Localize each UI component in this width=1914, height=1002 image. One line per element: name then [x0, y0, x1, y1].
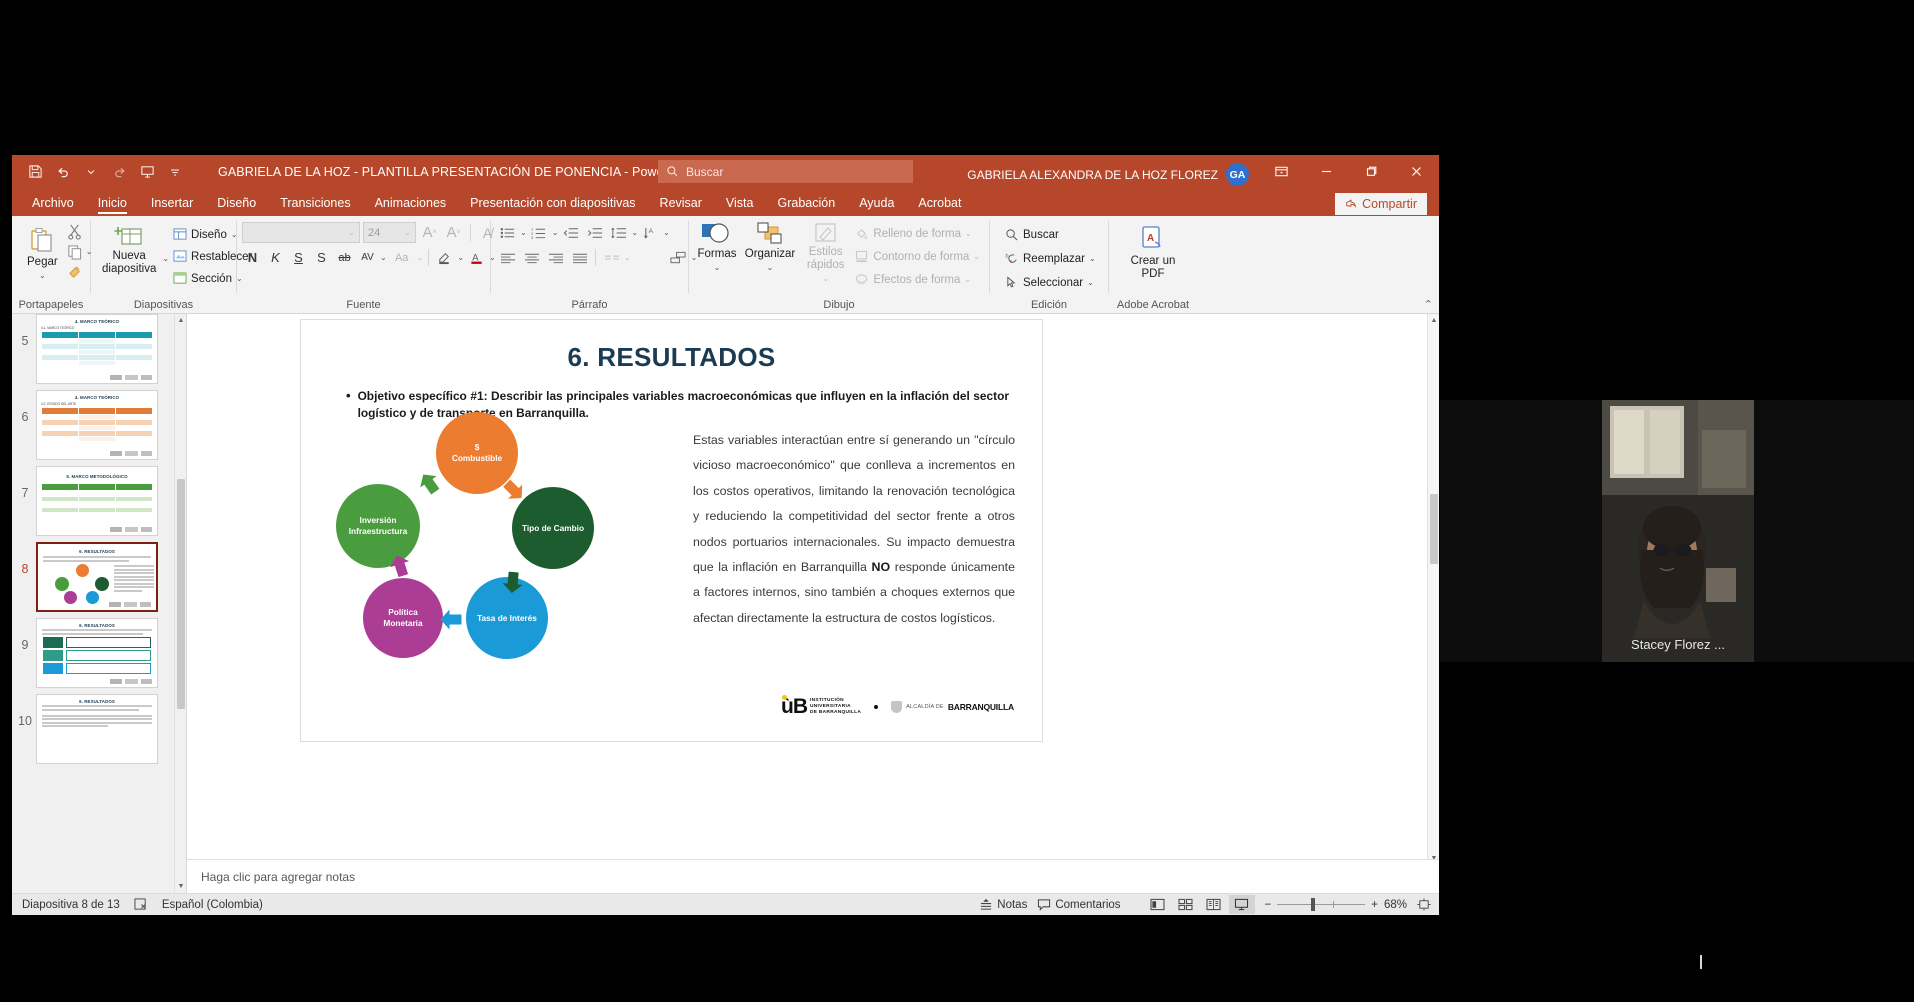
font-size-chevron-down-icon[interactable]: ⌄: [404, 228, 411, 237]
save-icon[interactable]: [22, 160, 48, 184]
align-right-icon[interactable]: [544, 247, 567, 268]
shapes-label: Formas: [698, 248, 737, 261]
numbering-chevron-down-icon[interactable]: ⌄: [552, 228, 559, 237]
quick-styles-label: Estilos rápidos: [806, 246, 845, 272]
shapes-button[interactable]: Formas ⌄: [694, 219, 740, 277]
select-icon: [1005, 276, 1019, 289]
account-name: GABRIELA ALEXANDRA DE LA HOZ FLOREZ: [967, 168, 1218, 182]
replace-label: Reemplazar: [1023, 253, 1085, 265]
italic-button[interactable]: K: [265, 247, 286, 268]
title-bar: GABRIELA DE LA HOZ - PLANTILLA PRESENTAC…: [12, 155, 1439, 188]
node-label: Tasa de Interés: [477, 613, 537, 624]
font-name-input[interactable]: ⌄: [242, 222, 360, 243]
participant-video-tile[interactable]: Stacey Florez ...: [1602, 400, 1754, 662]
scroll-down-icon[interactable]: ▼: [175, 880, 187, 893]
arrange-chevron-down-icon[interactable]: ⌄: [767, 261, 774, 274]
slide-paragraph[interactable]: Estas variables interactúan entre sí gen…: [693, 428, 1015, 631]
notes-icon: [979, 898, 993, 911]
tab-vista[interactable]: Vista: [714, 193, 766, 216]
zoom-out-button[interactable]: −: [1265, 899, 1272, 911]
node-label: $Combustible: [452, 442, 502, 464]
layout-icon: [173, 228, 187, 241]
thumbnail-number: 6: [14, 390, 36, 424]
underline-button[interactable]: S: [288, 247, 309, 268]
select-button[interactable]: Seleccionar ⌄: [1001, 272, 1100, 293]
scrollbar-thumb[interactable]: [1430, 494, 1438, 564]
shape-outline-label: Contorno de forma: [873, 251, 969, 263]
thumbnail-chevrons: [43, 637, 151, 674]
svg-text:b: b: [1006, 254, 1009, 260]
diagram-node-tipo-de-cambio[interactable]: Tipo de Cambio: [512, 487, 594, 569]
section-icon: [173, 272, 187, 285]
replace-button[interactable]: bc Reemplazar ⌄: [1001, 248, 1100, 269]
undo-dropdown-icon[interactable]: [78, 160, 104, 184]
search-placeholder: Buscar: [686, 165, 723, 179]
shape-fill-icon: [855, 227, 869, 240]
group-portapapeles: Pegar ⌄ ⌄: [12, 216, 90, 313]
alcaldia-logo: ALCALDÍA DE BARRANQUILLA: [891, 701, 1014, 713]
ribbon-display-options-icon[interactable]: [1259, 155, 1304, 188]
thumbnail-title: 6. RESULTADOS: [37, 699, 157, 704]
alcaldia-prefix: ALCALDÍA DE: [906, 704, 944, 710]
group-label-dibujo: Dibujo: [694, 297, 984, 313]
increase-indent-icon[interactable]: [583, 222, 606, 243]
thumbnail-number: 5: [14, 314, 36, 348]
shape-outline-icon: [855, 250, 869, 263]
share-label: Compartir: [1362, 197, 1417, 211]
svg-text:3: 3: [531, 234, 534, 239]
paste-icon: [28, 226, 56, 256]
notes-placeholder: Haga clic para agregar notas: [201, 870, 355, 884]
search-input[interactable]: Buscar: [658, 160, 913, 183]
thumbnail-diagram: [38, 563, 156, 605]
group-adobe-acrobat: A Crear un PDF Adobe Acrobat: [1109, 216, 1197, 313]
convert-to-smartart-icon[interactable]: [667, 247, 690, 268]
thumbnail-logo: [110, 679, 152, 684]
bullets-chevron-down-icon[interactable]: ⌄: [520, 228, 527, 237]
participant-video-feed: [1602, 400, 1754, 662]
undo-icon[interactable]: [50, 160, 76, 184]
highlight-chevron-down-icon[interactable]: ⌄: [457, 253, 464, 262]
tab-animaciones[interactable]: Animaciones: [363, 193, 459, 216]
line-spacing-chevron-down-icon[interactable]: ⌄: [631, 228, 638, 237]
tab-archivo[interactable]: Archivo: [20, 193, 86, 216]
window-controls: [1259, 155, 1439, 188]
screen: GABRIELA DE LA HOZ - PLANTILLA PRESENTAC…: [0, 0, 1914, 1002]
thumbnail-title: 5. MARCO METODOLÓGICO: [37, 474, 157, 479]
tab-revisar[interactable]: Revisar: [648, 193, 714, 216]
comments-button[interactable]: Comentarios: [1037, 898, 1120, 911]
reset-icon: [173, 250, 187, 263]
shape-effects-chevron-down-icon[interactable]: ⌄: [964, 275, 971, 284]
thumbnail-table: [42, 408, 152, 442]
thumbnail-slide[interactable]: 4. MARCO TEÓRICO 4.2. ESTADO DEL ARTE: [36, 390, 158, 460]
spacing-chevron-down-icon[interactable]: ⌄: [380, 253, 387, 262]
thumbnail-subtitle: 4.2. ESTADO DEL ARTE: [41, 402, 153, 406]
thumbnail-number: 7: [14, 466, 36, 500]
cycle-diagram[interactable]: $Combustible Tipo de Cambio Tasa de Inte…: [336, 412, 666, 712]
shape-effects-icon: [855, 273, 869, 286]
thumbnail-slide[interactable]: 6. RESULTADOS: [36, 618, 158, 688]
text-highlight-icon[interactable]: [434, 247, 455, 268]
text-direction-icon[interactable]: A: [639, 222, 662, 243]
node-label: PolíticaMonetaria: [383, 607, 422, 629]
bullets-icon[interactable]: [496, 222, 519, 243]
thumbnail-number: 9: [14, 618, 36, 652]
numbering-icon[interactable]: 123: [528, 222, 551, 243]
ribbon-body: Pegar ⌄ ⌄: [12, 216, 1439, 314]
arrange-label: Organizar: [745, 248, 796, 261]
collapse-ribbon-icon[interactable]: ⌃: [1424, 298, 1433, 311]
paragraph-bold: NO: [872, 560, 891, 574]
comment-icon: [1037, 898, 1051, 911]
create-pdf-label: Crear un PDF: [1120, 255, 1186, 281]
thumbnail-table: [42, 332, 152, 366]
node-label: Tipo de Cambio: [522, 523, 584, 534]
shapes-chevron-down-icon[interactable]: ⌄: [714, 261, 721, 274]
group-label-edicion: Edición: [995, 297, 1103, 313]
cut-icon[interactable]: [64, 222, 86, 241]
font-size-input[interactable]: 24 ⌄: [363, 222, 416, 243]
shape-fill-button[interactable]: Relleno de forma ⌄: [851, 223, 984, 244]
select-chevron-down-icon[interactable]: ⌄: [1087, 278, 1094, 287]
work-area: 5 4. MARCO TEÓRICO 4.1. MARCO TEÓRICO: [12, 314, 1439, 893]
quick-styles-chevron-down-icon[interactable]: ⌄: [822, 272, 829, 285]
case-chevron-down-icon[interactable]: ⌄: [417, 253, 424, 262]
paragraph-part1: Estas variables interactúan entre sí gen…: [693, 433, 1015, 574]
divider: [428, 249, 429, 266]
tab-transiciones[interactable]: Transiciones: [268, 193, 362, 216]
text-direction-chevron-down-icon[interactable]: ⌄: [663, 228, 670, 237]
ub-wordmark: INSTITUCIÓN UNIVERSITARIA DE BARRANQUILL…: [810, 698, 861, 716]
diagram-node-politica-monetaria[interactable]: PolíticaMonetaria: [363, 578, 443, 658]
comments-label: Comentarios: [1055, 899, 1120, 911]
slide-sorter-button[interactable]: [1173, 895, 1199, 914]
group-diapositivas: Nueva diapositiva ⌄ Diseño ⌄ Restablecer: [91, 216, 236, 313]
thumbnail-title: 6. RESULTADOS: [37, 623, 157, 628]
thumbnail-slide-selected[interactable]: 6. RESULTADOS: [36, 542, 158, 612]
redo-icon[interactable]: [106, 160, 132, 184]
slide-scrollbar[interactable]: ▲ ▼ ⌃ ⌄: [1427, 314, 1439, 893]
shape-fill-chevron-down-icon[interactable]: ⌄: [965, 229, 972, 238]
font-size-value: 24: [368, 227, 380, 239]
decrease-indent-icon[interactable]: [559, 222, 582, 243]
divider: [470, 224, 471, 241]
fit-slide-to-window-icon[interactable]: [1417, 898, 1431, 911]
group-label-fuente: Fuente: [242, 297, 485, 313]
thumbnail-title: 4. MARCO TEÓRICO: [37, 319, 157, 324]
svg-text:A: A: [648, 228, 653, 235]
slide-editing-area: 6. RESULTADOS • Objetivo específico #1: …: [187, 314, 1439, 893]
line-spacing-icon[interactable]: [607, 222, 630, 243]
shape-fill-label: Relleno de forma: [873, 228, 961, 240]
node-label: InversiónInfraestructura: [349, 515, 408, 537]
thumbnail-item-10[interactable]: 10 6. RESULTADOS: [12, 688, 186, 764]
shape-outline-chevron-down-icon[interactable]: ⌄: [973, 252, 980, 261]
tab-diseno[interactable]: Diseño: [205, 193, 268, 216]
character-spacing-button[interactable]: AV: [357, 247, 378, 268]
ribbon-tabs: Archivo Inicio Insertar Diseño Transicio…: [12, 188, 1439, 216]
thumbnail-slide[interactable]: 4. MARCO TEÓRICO 4.1. MARCO TEÓRICO: [36, 314, 158, 384]
avatar[interactable]: GA: [1226, 163, 1249, 186]
thumbnail-item-8[interactable]: 8 6. RESULTADOS: [12, 536, 186, 612]
share-icon: [1345, 198, 1357, 210]
create-pdf-button[interactable]: A Crear un PDF: [1114, 222, 1192, 284]
account-info[interactable]: GABRIELA ALEXANDRA DE LA HOZ FLOREZ GA: [967, 163, 1249, 186]
slide-logos: ùB INSTITUCIÓN UNIVERSITARIA DE BARRANQU…: [781, 697, 1014, 717]
font-name-chevron-down-icon[interactable]: ⌄: [348, 228, 355, 237]
tab-inicio[interactable]: Inicio: [86, 193, 139, 216]
start-slideshow-icon[interactable]: [134, 160, 160, 184]
shape-effects-label: Efectos de forma: [873, 274, 960, 286]
group-dibujo: Formas ⌄ Organizar ⌄ Estilos rápidos ⌄: [689, 216, 989, 313]
diagram-arrow-darkgreen: [499, 564, 527, 595]
copy-icon[interactable]: [64, 242, 86, 261]
tab-presentacion-con-diapositivas[interactable]: Presentación con diapositivas: [458, 193, 647, 216]
group-edicion: Buscar bc Reemplazar ⌄ Seleccionar ⌄: [990, 216, 1108, 313]
arrange-button[interactable]: Organizar ⌄: [740, 219, 800, 277]
group-label-parrafo: Párrafo: [496, 297, 683, 313]
format-painter-icon[interactable]: [64, 262, 86, 281]
slide-thumbnail-panel[interactable]: 5 4. MARCO TEÓRICO 4.1. MARCO TEÓRICO: [12, 314, 187, 893]
zoom-level: 68%: [1384, 899, 1407, 911]
quick-access-toolbar: [12, 160, 188, 184]
bold-button[interactable]: N: [242, 247, 263, 268]
text-shadow-button[interactable]: S: [311, 247, 332, 268]
svg-text:A: A: [1147, 233, 1154, 244]
create-pdf-icon: A: [1138, 225, 1168, 255]
thumbnail-number: 8: [14, 542, 36, 576]
paste-label: Pegar: [27, 256, 58, 269]
notes-pane[interactable]: Haga clic para agregar notas: [187, 859, 1439, 893]
zoom-slider[interactable]: [1277, 904, 1365, 905]
shape-outline-button[interactable]: Contorno de forma ⌄: [851, 246, 984, 267]
logo-separator-dot: [874, 705, 878, 709]
new-slide-chevron-down-icon[interactable]: ⌄: [162, 220, 169, 263]
strikethrough-button[interactable]: ab: [334, 247, 355, 268]
zoom-midpoint-tick: [1333, 901, 1334, 908]
search-icon: [666, 165, 679, 178]
group-parrafo: ⌄ 123 ⌄ ⌄ A ⌄: [491, 216, 688, 313]
new-slide-icon: [114, 224, 144, 250]
ub-dot-icon: [782, 695, 787, 700]
scroll-up-icon[interactable]: ▲: [175, 314, 187, 327]
scroll-up-icon[interactable]: ▲: [1428, 314, 1439, 327]
align-center-icon[interactable]: [520, 247, 543, 268]
find-label: Buscar: [1023, 229, 1059, 241]
thumbnail-item-7[interactable]: 7 5. MARCO METODOLÓGICO: [12, 460, 186, 536]
thumbnail-table: [42, 484, 152, 518]
replace-icon: bc: [1005, 252, 1019, 265]
zoom-slider-handle[interactable]: [1311, 898, 1315, 911]
thumbnail-logo: [110, 375, 152, 380]
shield-icon: [891, 701, 902, 713]
ub-logo: ùB INSTITUCIÓN UNIVERSITARIA DE BARRANQU…: [781, 697, 861, 717]
thumbnail-logo: [110, 527, 152, 532]
change-case-button[interactable]: Aa: [389, 247, 415, 268]
shape-effects-button[interactable]: Efectos de forma ⌄: [851, 269, 984, 290]
thumbnail-slide[interactable]: 5. MARCO METODOLÓGICO: [36, 466, 158, 536]
thumbnail-title: 6. RESULTADOS: [38, 549, 156, 554]
columns-chevron-down-icon[interactable]: ⌄: [624, 253, 631, 262]
restore-icon[interactable]: [1349, 155, 1394, 188]
ub-mark: ùB: [781, 697, 807, 717]
layout-label: Diseño: [191, 229, 227, 241]
tab-grabacion[interactable]: Grabación: [766, 193, 848, 216]
participant-name: Stacey Florez ...: [1602, 637, 1754, 652]
thumbnail-item-6[interactable]: 6 4. MARCO TEÓRICO 4.2. ESTADO DEL ARTE: [12, 384, 186, 460]
section-label: Sección: [191, 273, 232, 285]
align-left-icon[interactable]: [496, 247, 519, 268]
quick-styles-icon: [812, 222, 840, 246]
find-button[interactable]: Buscar: [1001, 224, 1100, 245]
zoom-control[interactable]: − + 68%: [1265, 899, 1407, 911]
find-icon: [1005, 228, 1019, 241]
diagram-arrow-blue: [440, 607, 469, 633]
ub-line3: DE BARRANQUILLA: [810, 710, 861, 716]
thumbnail-item-9[interactable]: 9 6. RESULTADOS: [12, 612, 186, 688]
thumbnail-item-5[interactable]: 5 4. MARCO TEÓRICO 4.1. MARCO TEÓRICO: [12, 314, 186, 384]
shrink-font-button[interactable]: A˅: [443, 222, 464, 243]
thumbnail-slide[interactable]: 6. RESULTADOS: [36, 694, 158, 764]
minimize-icon[interactable]: [1304, 155, 1349, 188]
accessibility-check-icon[interactable]: [134, 898, 148, 911]
shapes-icon: [700, 222, 734, 248]
new-slide-label: Nueva diapositiva: [102, 250, 156, 276]
paste-button[interactable]: Pegar ⌄: [21, 220, 64, 285]
tab-ayuda[interactable]: Ayuda: [847, 193, 906, 216]
thumbnail-logo: [109, 602, 151, 607]
chevron-down-icon[interactable]: ⌄: [39, 269, 46, 282]
current-slide[interactable]: 6. RESULTADOS • Objetivo específico #1: …: [300, 319, 1043, 742]
video-call-panel: Stacey Florez ...: [1440, 400, 1914, 662]
slideshow-button[interactable]: [1229, 895, 1255, 914]
tab-acrobat[interactable]: Acrobat: [906, 193, 973, 216]
font-color-icon[interactable]: A: [466, 247, 487, 268]
svg-text:A: A: [472, 252, 479, 262]
scrollbar-thumb[interactable]: [177, 479, 185, 709]
arrange-icon: [755, 222, 785, 248]
group-fuente: ⌄ 24 ⌄ A˄ A˅ A̸ N K S: [237, 216, 490, 313]
notes-label: Notas: [997, 899, 1027, 911]
justify-icon[interactable]: [568, 247, 591, 268]
group-label-acrobat: Adobe Acrobat: [1114, 297, 1192, 313]
status-bar: Diapositiva 8 de 13 Español (Colombia) N…: [12, 893, 1439, 915]
slide-counter: Diapositiva 8 de 13: [22, 899, 120, 911]
replace-chevron-down-icon[interactable]: ⌄: [1089, 254, 1096, 263]
customize-qat-icon[interactable]: [162, 160, 188, 184]
divider: [595, 249, 596, 266]
slide-title[interactable]: 6. RESULTADOS: [301, 342, 1042, 373]
window-title: GABRIELA DE LA HOZ - PLANTILLA PRESENTAC…: [218, 165, 697, 179]
grow-font-button[interactable]: A˄: [419, 222, 440, 243]
group-label-portapapeles: Portapapeles: [17, 297, 85, 313]
language-indicator[interactable]: Español (Colombia): [162, 899, 263, 911]
reading-view-button[interactable]: [1201, 895, 1227, 914]
text-cursor: [1700, 955, 1702, 969]
thumbnail-logo: [110, 451, 152, 456]
select-label: Seleccionar: [1023, 277, 1083, 289]
thumbnail-subtitle: 4.1. MARCO TEÓRICO: [41, 326, 153, 330]
tab-insertar[interactable]: Insertar: [139, 193, 205, 216]
powerpoint-window: GABRIELA DE LA HOZ - PLANTILLA PRESENTAC…: [12, 155, 1439, 915]
zoom-in-button[interactable]: +: [1371, 899, 1378, 911]
normal-view-button[interactable]: [1145, 895, 1171, 914]
thumbnail-title: 4. MARCO TEÓRICO: [37, 395, 157, 400]
new-slide-button[interactable]: Nueva diapositiva: [96, 220, 162, 279]
thumbnail-number: 10: [14, 694, 36, 728]
thumbnail-scrollbar[interactable]: ▲ ▼: [174, 314, 186, 893]
group-label-diapositivas: Diapositivas: [96, 297, 231, 313]
share-button[interactable]: Compartir: [1335, 193, 1427, 215]
alcaldia-name: BARRANQUILLA: [948, 702, 1014, 712]
quick-styles-button[interactable]: Estilos rápidos ⌄: [800, 219, 851, 288]
columns-icon[interactable]: [600, 247, 623, 268]
notes-button[interactable]: Notas: [979, 898, 1027, 911]
close-icon[interactable]: [1394, 155, 1439, 188]
